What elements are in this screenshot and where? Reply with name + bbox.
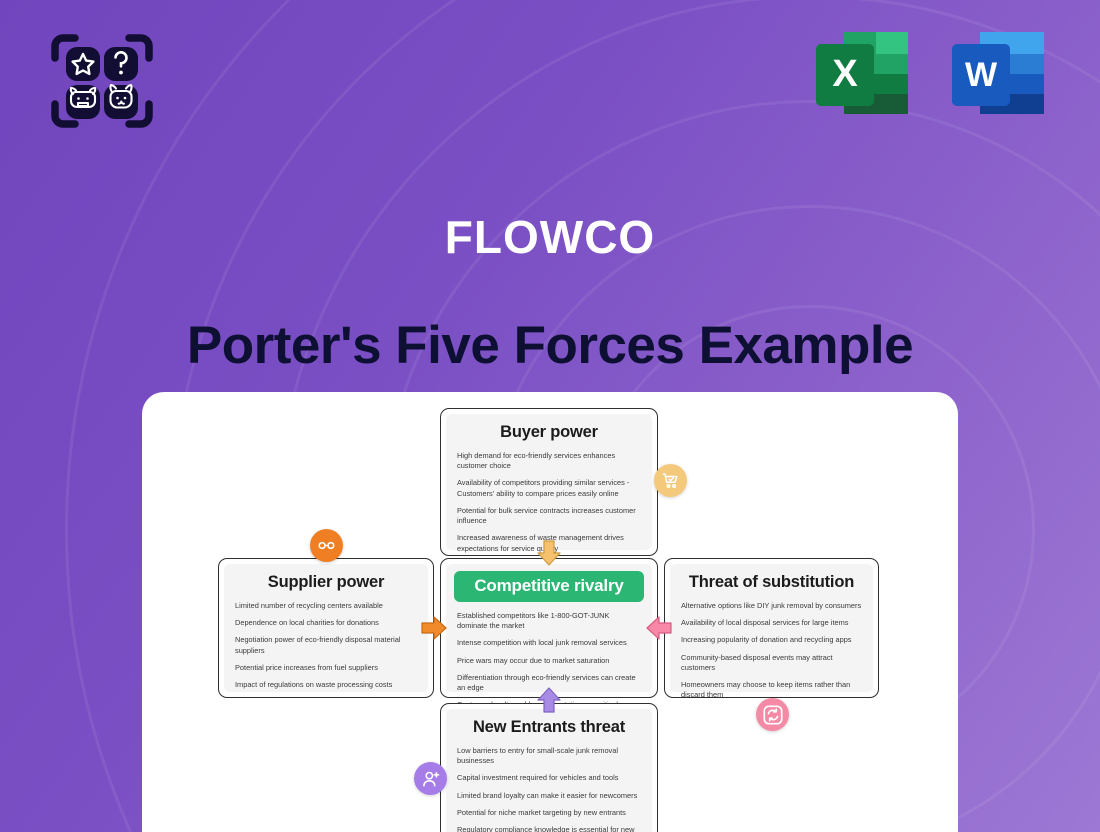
list-item: Low barriers to entry for small-scale ju…: [457, 746, 641, 766]
force-box-supplier-power[interactable]: Supplier power Limited number of recycli…: [218, 558, 434, 698]
list-item: Regulatory compliance knowledge is essen…: [457, 825, 641, 832]
arrow-supplier-to-rivalry: [421, 614, 447, 642]
page-title: Porter's Five Forces Example: [0, 315, 1100, 376]
new-entrants-threat-title: New Entrants threat: [457, 718, 641, 737]
list-item: Intense competition with local junk remo…: [457, 638, 641, 648]
list-item: Price wars may occur due to market satur…: [457, 656, 641, 666]
arrow-entrants-to-rivalry: [535, 687, 563, 713]
list-item: Potential for niche market targeting by …: [457, 808, 641, 818]
brand-title: FLOWCO: [0, 210, 1100, 264]
excel-icon[interactable]: X: [812, 28, 912, 124]
force-box-new-entrants-threat[interactable]: New Entrants threat Low barriers to entr…: [440, 703, 658, 832]
force-box-threat-of-substitution[interactable]: Threat of substitution Alternative optio…: [664, 558, 879, 698]
refresh-sync-icon[interactable]: [756, 698, 789, 731]
buyer-power-title: Buyer power: [457, 423, 641, 442]
svg-text:X: X: [832, 53, 858, 95]
list-item: Potential for bulk service contracts inc…: [457, 506, 641, 526]
word-icon[interactable]: W: [948, 28, 1048, 124]
list-item: Availability of local disposal services …: [681, 618, 862, 628]
supplier-power-title: Supplier power: [235, 573, 417, 592]
list-item: High demand for eco-friendly services en…: [457, 451, 641, 471]
poster-canvas: X W FLOWCO Porter's Five Forces Example …: [0, 0, 1100, 832]
threat-of-substitution-list: Alternative options like DIY junk remova…: [681, 601, 862, 701]
list-item: Potential price increases from fuel supp…: [235, 663, 417, 673]
supplier-power-list: Limited number of recycling centers avai…: [235, 601, 417, 690]
list-item: Capital investment required for vehicles…: [457, 773, 641, 783]
force-box-buyer-power[interactable]: Buyer power High demand for eco-friendly…: [440, 408, 658, 556]
shopping-cart-icon[interactable]: [654, 464, 687, 497]
diagram-card: Buyer power High demand for eco-friendly…: [142, 392, 958, 832]
svg-text:W: W: [965, 56, 998, 94]
list-item: Community-based disposal events may attr…: [681, 653, 862, 673]
new-entrants-threat-list: Low barriers to entry for small-scale ju…: [457, 746, 641, 832]
threat-of-substitution-title: Threat of substitution: [681, 573, 862, 592]
list-item: Impact of regulations on waste processin…: [235, 680, 417, 690]
pet-scan-logo-icon: [49, 30, 155, 132]
list-item: Increasing popularity of donation and re…: [681, 635, 862, 645]
add-user-icon[interactable]: [414, 762, 447, 795]
list-item: Established competitors like 1-800-GOT-J…: [457, 611, 641, 631]
competitive-rivalry-title: Competitive rivalry: [454, 571, 644, 602]
list-item: Limited number of recycling centers avai…: [235, 601, 417, 611]
force-box-competitive-rivalry[interactable]: Competitive rivalry Established competit…: [440, 558, 658, 698]
list-item: Dependence on local charities for donati…: [235, 618, 417, 628]
list-item: Alternative options like DIY junk remova…: [681, 601, 862, 611]
office-icons-group: X W: [812, 28, 1048, 124]
arrow-buyer-to-rivalry: [535, 540, 563, 566]
buyer-power-list: High demand for eco-friendly services en…: [457, 451, 641, 554]
list-item: Availability of competitors providing si…: [457, 478, 641, 498]
list-item: Limited brand loyalty can make it easier…: [457, 791, 641, 801]
link-chain-icon[interactable]: [310, 529, 343, 562]
arrow-threat-to-rivalry: [646, 614, 672, 642]
list-item: Negotiation power of eco-friendly dispos…: [235, 635, 417, 655]
